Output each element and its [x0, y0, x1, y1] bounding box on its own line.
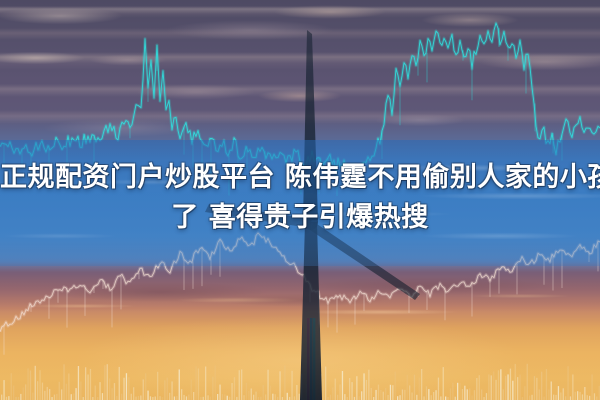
headline-band — [0, 140, 600, 266]
banner-image: 正规配资门户炒股平台 陈伟霆不用偷别人家的小孩 了 喜得贵子引爆热搜 — [0, 0, 600, 400]
